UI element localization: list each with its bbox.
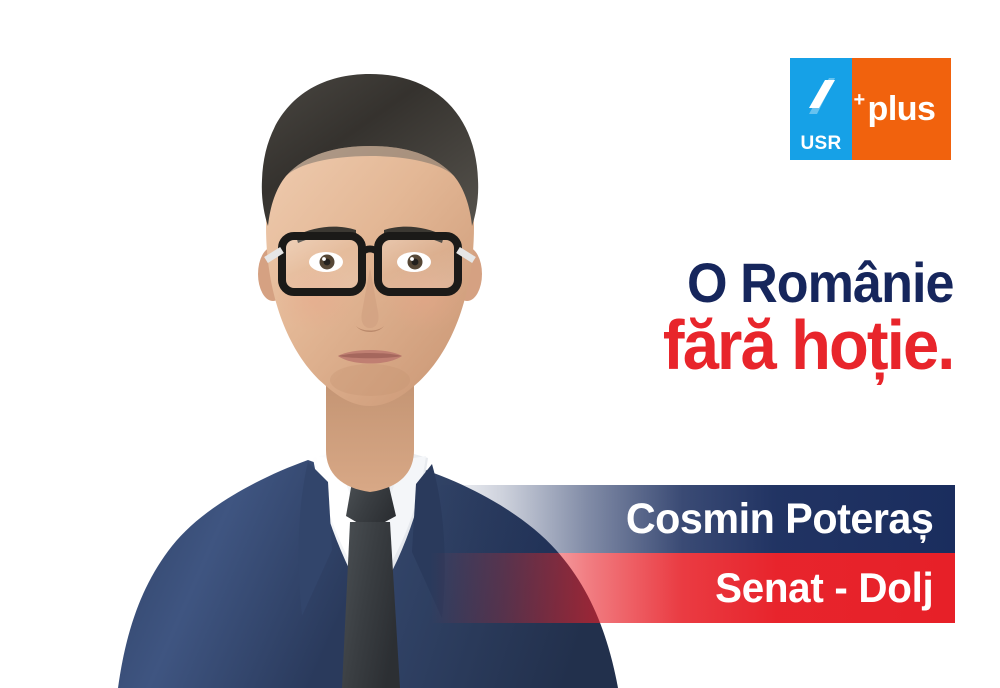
usr-flag-mark-icon: [803, 76, 837, 116]
candidate-name-bar: Cosmin Poteraș: [430, 485, 955, 553]
candidate-office-bar: Senat - Dolj: [430, 553, 955, 623]
usr-logo: USR: [790, 58, 852, 160]
slogan-line-1: O Românie: [663, 256, 954, 310]
plus-sign-icon: +: [854, 90, 865, 110]
portrait-head: [258, 74, 482, 406]
party-logo-lockup: USR plus+: [790, 58, 951, 160]
campaign-slogan: O Românie fără hoție.: [641, 256, 954, 379]
slogan-line-2: fără hoție.: [663, 312, 954, 379]
campaign-poster: USR plus+ O Românie fără hoție. Cosmin P…: [0, 0, 1000, 688]
candidate-office: Senat - Dolj: [715, 567, 933, 609]
candidate-name: Cosmin Poteraș: [625, 498, 933, 541]
plus-logo-label: plus+: [868, 92, 936, 126]
usr-logo-label: USR: [800, 134, 841, 153]
plus-logo: plus+: [852, 58, 951, 160]
